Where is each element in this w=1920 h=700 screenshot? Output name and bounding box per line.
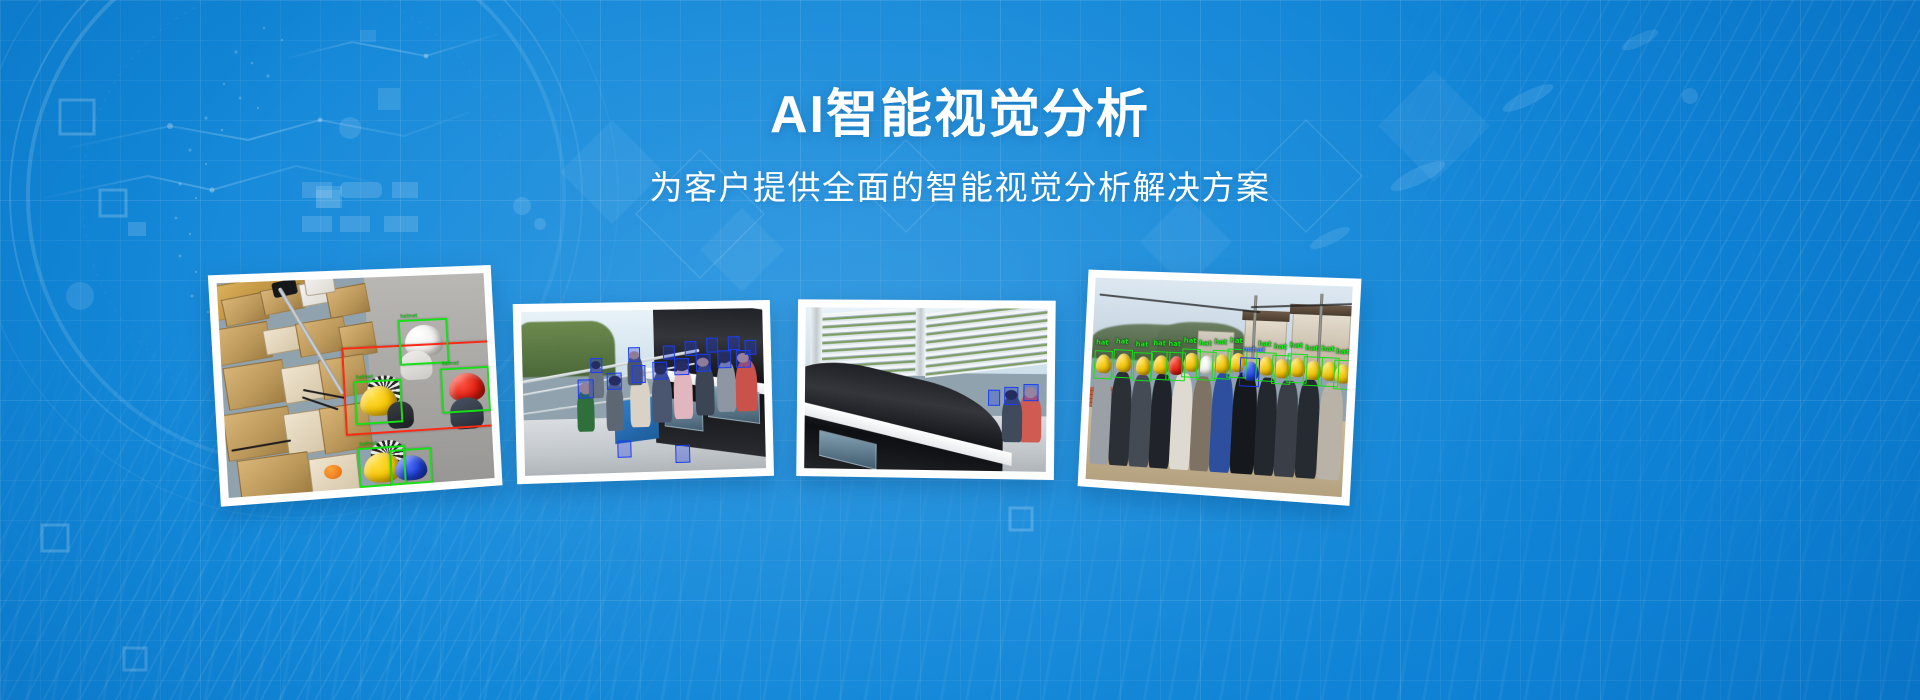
gallery-strip: helmet helmet helmet helmet (0, 258, 1920, 528)
detection-box-face (988, 390, 1000, 406)
detection-label: hat (1258, 340, 1271, 348)
scene-warehouse: helmet helmet helmet helmet (217, 273, 495, 498)
detection-box-face (1023, 384, 1038, 402)
gallery-photo-village-hardhat[interactable]: hat hat hat hat hat hat hat hat hat no (1078, 270, 1362, 506)
detection-label: hat (1136, 341, 1149, 348)
detection-label: hat (1305, 345, 1319, 353)
detection-box-helmet (398, 318, 450, 366)
detection-label: hat (1168, 341, 1181, 349)
detection-label: helmet (356, 375, 374, 381)
detection-label: hat (1321, 345, 1335, 353)
detection-box-helmet (354, 379, 404, 426)
scene-station-crowd (521, 308, 766, 476)
gallery-photo-station-boarding[interactable] (796, 299, 1056, 480)
detection-box-face (744, 340, 756, 355)
hero-banner: AI智能视觉分析 为客户提供全面的智能视觉分析解决方案 (0, 0, 1920, 700)
pillar (915, 308, 925, 376)
page-title: AI智能视觉分析 (0, 86, 1920, 146)
detection-box-face (1004, 387, 1019, 405)
detection-box-face (578, 379, 594, 399)
scene-station-boarding (804, 307, 1047, 472)
detection-label: hat (1096, 339, 1109, 346)
detection-box-face (631, 365, 646, 383)
warehouse-box (222, 359, 289, 411)
detection-box-hat (1113, 349, 1133, 378)
detection-label: hat (1274, 343, 1288, 351)
detection-label: helmet (400, 314, 417, 320)
detection-box-face (717, 350, 732, 368)
detection-box-face (706, 338, 718, 353)
detection-box-face (674, 358, 689, 376)
detection-box-helmet (440, 365, 491, 413)
detection-label: hat (1184, 337, 1197, 345)
detection-box-face (607, 372, 622, 390)
detection-label: hat (1153, 340, 1166, 348)
detection-box-face (727, 336, 739, 351)
detection-box-face (590, 358, 603, 373)
hero-text-block: AI智能视觉分析 为客户提供全面的智能视觉分析解决方案 (0, 86, 1920, 207)
detection-box-face (653, 361, 668, 379)
detection-label: hat (1214, 339, 1227, 347)
detection-label: hat (1289, 342, 1303, 350)
detection-box-face (663, 345, 675, 360)
detection-box-face (685, 341, 697, 356)
detection-label: hat (1336, 348, 1350, 356)
warehouse-box (236, 451, 312, 498)
detection-label: helmet (442, 362, 459, 368)
detection-label: hat (1230, 337, 1243, 345)
detection-box-hat (1093, 350, 1113, 379)
detection-label: hat (1199, 340, 1212, 348)
detection-box-face (696, 354, 711, 372)
detection-box-helmet (389, 447, 433, 485)
detection-box-hat (1333, 360, 1353, 390)
gallery-photo-warehouse[interactable]: helmet helmet helmet helmet (208, 265, 503, 507)
detection-box-face (628, 347, 640, 362)
page-subtitle: 为客户提供全面的智能视觉分析解决方案 (0, 168, 1920, 208)
warehouse-bin (304, 273, 336, 296)
detection-box-face (617, 440, 632, 458)
detection-label: hat (1116, 338, 1129, 345)
detection-box-face (675, 445, 690, 463)
scene-village-group: hat hat hat hat hat hat hat hat hat no (1086, 278, 1353, 497)
gallery-photo-station-crowd[interactable] (513, 300, 774, 484)
